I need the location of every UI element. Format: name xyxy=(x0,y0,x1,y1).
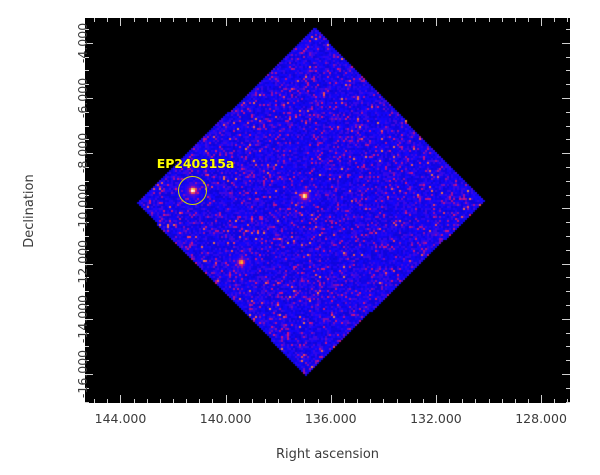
x-axis-tick xyxy=(226,18,227,26)
x-axis-tick xyxy=(502,399,503,403)
x-axis-tick xyxy=(252,399,253,403)
x-axis-tick xyxy=(94,18,95,22)
ep240315a-source-label: EP240315a xyxy=(157,156,234,171)
x-axis-tick xyxy=(436,395,437,403)
x-axis-tick xyxy=(226,395,227,403)
y-axis-tick xyxy=(566,29,570,30)
y-axis-tick xyxy=(566,305,570,306)
x-axis-tick xyxy=(239,399,240,403)
x-axis-tick xyxy=(291,18,292,22)
y-axis-tick xyxy=(566,346,570,347)
x-axis-tick xyxy=(449,399,450,403)
x-axis-tick xyxy=(134,18,135,22)
x-axis-tick xyxy=(199,18,200,22)
y-axis-tick xyxy=(566,250,570,251)
y-axis-tick xyxy=(566,167,570,168)
x-axis-tick xyxy=(502,18,503,22)
y-axis-tick xyxy=(85,70,89,71)
y-axis-tick xyxy=(566,360,570,361)
x-axis-tick xyxy=(186,18,187,22)
x-axis-tick xyxy=(147,399,148,403)
y-axis-title: Declination xyxy=(22,174,37,248)
x-axis-tick xyxy=(212,18,213,22)
x-axis-tick xyxy=(462,399,463,403)
x-axis-tick xyxy=(304,18,305,22)
y-axis-tick xyxy=(566,112,570,113)
x-axis-tick xyxy=(410,399,411,403)
x-axis-tick xyxy=(515,18,516,22)
x-axis-tick xyxy=(475,18,476,22)
x-axis-tick xyxy=(304,399,305,403)
y-axis-tick xyxy=(566,388,570,389)
x-axis-tick xyxy=(173,18,174,22)
y-axis-tick xyxy=(562,208,570,209)
x-axis-tick xyxy=(278,399,279,403)
x-axis-tick xyxy=(383,399,384,403)
x-axis-tick xyxy=(331,18,332,26)
x-axis-tick xyxy=(147,18,148,22)
y-axis-tick xyxy=(566,70,570,71)
x-axis-tick xyxy=(318,18,319,22)
x-axis-tick xyxy=(554,399,555,403)
x-axis-tick xyxy=(541,18,542,26)
x-axis-tick xyxy=(278,18,279,22)
x-axis-tick xyxy=(410,18,411,22)
x-axis-tick xyxy=(489,399,490,403)
x-axis-tick xyxy=(199,399,200,403)
y-axis-tick xyxy=(566,333,570,334)
x-axis-tick xyxy=(462,18,463,22)
y-axis-tick-label: -10.000 xyxy=(75,184,90,232)
y-axis-tick xyxy=(562,43,570,44)
x-axis-tick xyxy=(370,399,371,403)
x-axis-tick xyxy=(383,18,384,22)
x-axis-tick xyxy=(397,18,398,22)
y-axis-tick xyxy=(566,402,570,403)
y-axis-tick xyxy=(566,181,570,182)
x-axis-tick xyxy=(252,18,253,22)
x-axis-tick-label: 136.000 xyxy=(305,411,357,426)
x-axis-tick xyxy=(397,399,398,403)
y-axis-tick xyxy=(562,98,570,99)
y-axis-tick-label: -4.000 xyxy=(75,23,90,63)
x-axis-tick xyxy=(94,399,95,403)
x-axis-tick-label: 144.000 xyxy=(95,411,147,426)
x-axis-tick xyxy=(475,399,476,403)
y-axis-tick xyxy=(85,346,89,347)
y-axis-tick xyxy=(562,153,570,154)
x-axis-tick xyxy=(370,18,371,22)
x-axis-tick xyxy=(265,18,266,22)
x-axis-tick xyxy=(239,18,240,22)
y-axis-tick xyxy=(566,222,570,223)
x-axis-tick xyxy=(291,399,292,403)
x-axis-tick xyxy=(423,399,424,403)
x-axis-tick xyxy=(344,18,345,22)
x-axis-tick xyxy=(423,18,424,22)
x-axis-tick xyxy=(120,395,121,403)
x-axis-tick xyxy=(160,18,161,22)
x-axis-tick xyxy=(186,399,187,403)
y-axis-tick xyxy=(562,319,570,320)
x-axis-tick xyxy=(541,395,542,403)
y-axis-tick xyxy=(566,236,570,237)
y-axis-tick xyxy=(566,84,570,85)
x-axis-tick xyxy=(357,18,358,22)
x-axis-tick xyxy=(134,399,135,403)
x-axis-tick-label: 140.000 xyxy=(200,411,252,426)
y-axis-tick xyxy=(566,139,570,140)
x-axis-tick xyxy=(554,18,555,22)
y-axis-tick xyxy=(85,291,89,292)
y-axis-tick xyxy=(566,126,570,127)
x-axis-tick xyxy=(160,399,161,403)
y-axis-tick xyxy=(85,181,89,182)
x-axis-tick-label: 132.000 xyxy=(410,411,462,426)
sky-image-canvas xyxy=(85,18,570,403)
sky-image-plot-area[interactable]: EP240315a xyxy=(85,18,570,403)
x-axis-tick xyxy=(265,399,266,403)
y-axis-tick-label: -14.000 xyxy=(75,295,90,343)
x-axis-tick xyxy=(489,18,490,22)
x-axis-tick xyxy=(212,399,213,403)
x-axis-tick xyxy=(107,18,108,22)
x-axis-tick xyxy=(331,395,332,403)
x-axis-title: Right ascension xyxy=(276,447,379,462)
x-axis-tick-label: 128.000 xyxy=(515,411,567,426)
y-axis-tick xyxy=(85,126,89,127)
x-axis-tick xyxy=(567,18,568,22)
x-axis-tick xyxy=(357,399,358,403)
x-axis-tick xyxy=(528,399,529,403)
x-axis-tick xyxy=(449,18,450,22)
x-axis-tick xyxy=(436,18,437,26)
x-axis-tick xyxy=(318,399,319,403)
x-axis-tick xyxy=(515,399,516,403)
y-axis-tick xyxy=(85,402,89,403)
y-axis-tick xyxy=(85,236,89,237)
sky-image-figure: EP240315a 144.000140.000136.000132.00012… xyxy=(0,0,600,475)
y-axis-tick xyxy=(566,57,570,58)
y-axis-tick xyxy=(566,291,570,292)
x-axis-tick xyxy=(120,18,121,26)
y-axis-tick xyxy=(566,277,570,278)
y-axis-tick xyxy=(566,195,570,196)
x-axis-tick xyxy=(344,399,345,403)
y-axis-tick xyxy=(562,374,570,375)
y-axis-tick-label: -12.000 xyxy=(75,240,90,288)
x-axis-tick xyxy=(107,399,108,403)
y-axis-tick-label: -6.000 xyxy=(75,78,90,118)
y-axis-tick xyxy=(562,264,570,265)
y-axis-tick-label: -16.000 xyxy=(75,350,90,398)
x-axis-tick xyxy=(528,18,529,22)
x-axis-tick xyxy=(173,399,174,403)
y-axis-tick-label: -8.000 xyxy=(75,133,90,173)
